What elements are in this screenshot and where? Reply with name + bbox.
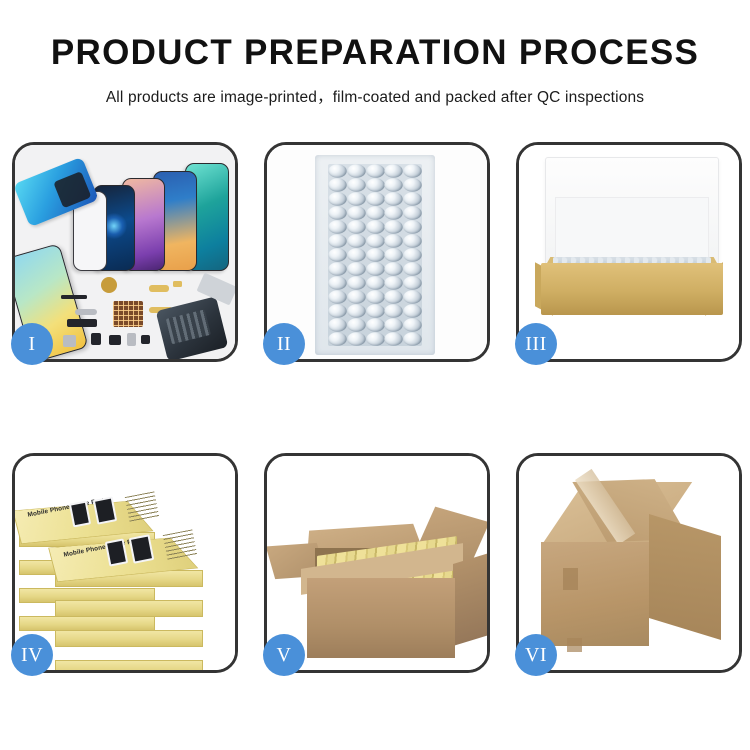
bubble: [347, 318, 365, 332]
bubble: [385, 178, 403, 192]
bubble: [328, 332, 346, 346]
bubble: [328, 318, 346, 332]
bubble: [366, 332, 384, 346]
process-step-panel-2: II: [264, 142, 490, 362]
bubble: [347, 262, 365, 276]
bubble: [328, 192, 346, 206]
bubble: [403, 234, 421, 248]
part-strip: [61, 295, 87, 299]
process-step-panel-3: III: [516, 142, 742, 362]
bubble: [385, 164, 403, 178]
step-badge-3: III: [515, 323, 557, 365]
bubble: [347, 178, 365, 192]
step-badge-2: II: [263, 323, 305, 365]
bubble: [403, 220, 421, 234]
bubble: [403, 318, 421, 332]
part-logic-grid: [113, 301, 143, 327]
bubble: [385, 220, 403, 234]
printed-screen-image: [93, 496, 117, 524]
bubble: [403, 304, 421, 318]
bubble: [385, 318, 403, 332]
bubble: [403, 276, 421, 290]
open-inner-box-photo: [519, 145, 739, 359]
bubble: [347, 276, 365, 290]
bubble-wrap-pouch-photo: [267, 145, 487, 359]
bubble: [328, 220, 346, 234]
bubble: [385, 332, 403, 346]
carton-right-face: [649, 514, 721, 640]
bubble: [403, 248, 421, 262]
process-step-panel-1: I: [12, 142, 238, 362]
printed-spec-lines: [125, 491, 159, 522]
bubble: [403, 262, 421, 276]
bubble-wrap-pouch: [315, 155, 435, 355]
bubble: [347, 332, 365, 346]
bubble: [385, 276, 403, 290]
bubble: [403, 332, 421, 346]
bubble: [347, 192, 365, 206]
part-camera-module: [91, 333, 101, 345]
step-badge-5: V: [263, 634, 305, 676]
part-ic-chip: [141, 335, 150, 344]
retail-box: [55, 660, 203, 670]
bubble: [403, 178, 421, 192]
bubble: [347, 290, 365, 304]
retail-box: [55, 630, 203, 647]
bubble-grid: [328, 164, 422, 346]
process-step-panel-4: Mobile Phone Spare Parts Mobile Phone Sp…: [12, 453, 238, 673]
part-flex-cable: [67, 319, 97, 327]
part-speaker: [109, 335, 121, 345]
bubble: [366, 178, 384, 192]
part-motherboard: [156, 296, 229, 359]
retail-box: [19, 616, 155, 631]
carton-seam-tab: [563, 568, 578, 590]
bubble: [385, 290, 403, 304]
page-title: PRODUCT PREPARATION PROCESS: [0, 34, 750, 73]
bubble: [385, 248, 403, 262]
step-badge-1: I: [11, 323, 53, 365]
bubble: [366, 248, 384, 262]
page-subtitle: All products are image-printed，film-coat…: [0, 85, 750, 107]
bubble: [366, 192, 384, 206]
part-metal-plate: [63, 335, 76, 347]
bubble: [328, 248, 346, 262]
printed-spec-lines: [163, 529, 197, 560]
carton-front-face: [307, 578, 455, 658]
bubble: [366, 234, 384, 248]
phones-and-spare-parts-photo: [15, 145, 235, 359]
bubble: [366, 220, 384, 234]
spare-parts-cluster: [61, 273, 235, 355]
bubble: [347, 248, 365, 262]
bubble: [366, 290, 384, 304]
bubble: [385, 234, 403, 248]
carton-front-face: [541, 542, 649, 646]
bubble: [366, 304, 384, 318]
carton-seam-tab: [567, 638, 582, 652]
process-step-panel-5: V: [264, 453, 490, 673]
bubble: [366, 164, 384, 178]
bubble: [403, 290, 421, 304]
bubble: [328, 164, 346, 178]
step-badge-6: VI: [515, 634, 557, 676]
header: PRODUCT PREPARATION PROCESS All products…: [0, 0, 750, 107]
part-silver-bracket: [75, 309, 97, 315]
bubble: [328, 290, 346, 304]
part-gold-chip: [173, 281, 182, 287]
inner-box-kraft-body: [541, 263, 723, 315]
bubble: [385, 192, 403, 206]
bubble: [403, 206, 421, 220]
bubble: [347, 220, 365, 234]
bubble: [403, 164, 421, 178]
carton-side-face: [453, 554, 487, 646]
bubble: [347, 206, 365, 220]
stacked-retail-boxes-photo: Mobile Phone Spare Parts Mobile Phone Sp…: [15, 456, 235, 670]
bubble: [366, 276, 384, 290]
process-step-panel-6: VI: [516, 453, 742, 673]
bubble: [328, 206, 346, 220]
bubble: [347, 164, 365, 178]
bubble: [347, 304, 365, 318]
process-step-grid: I II III: [12, 142, 742, 673]
bubble: [385, 206, 403, 220]
bubble: [328, 234, 346, 248]
sealed-shipping-carton-photo: [519, 456, 739, 670]
open-shipping-carton-photo: [267, 456, 487, 670]
step-badge-4: IV: [11, 634, 53, 676]
bubble: [366, 262, 384, 276]
phone-lineup: [71, 153, 231, 271]
bubble: [328, 262, 346, 276]
bubble: [328, 304, 346, 318]
part-gold-coil: [101, 277, 117, 293]
bubble: [328, 178, 346, 192]
bubble: [328, 276, 346, 290]
bubble: [403, 192, 421, 206]
bubble: [385, 262, 403, 276]
bubble: [385, 304, 403, 318]
part-gold-flex: [149, 285, 169, 292]
bubble: [347, 234, 365, 248]
bubble: [366, 206, 384, 220]
bubble: [366, 318, 384, 332]
part-sim-tray: [127, 333, 136, 346]
product-preparation-infographic: PRODUCT PREPARATION PROCESS All products…: [0, 0, 750, 750]
retail-box: [55, 600, 203, 617]
